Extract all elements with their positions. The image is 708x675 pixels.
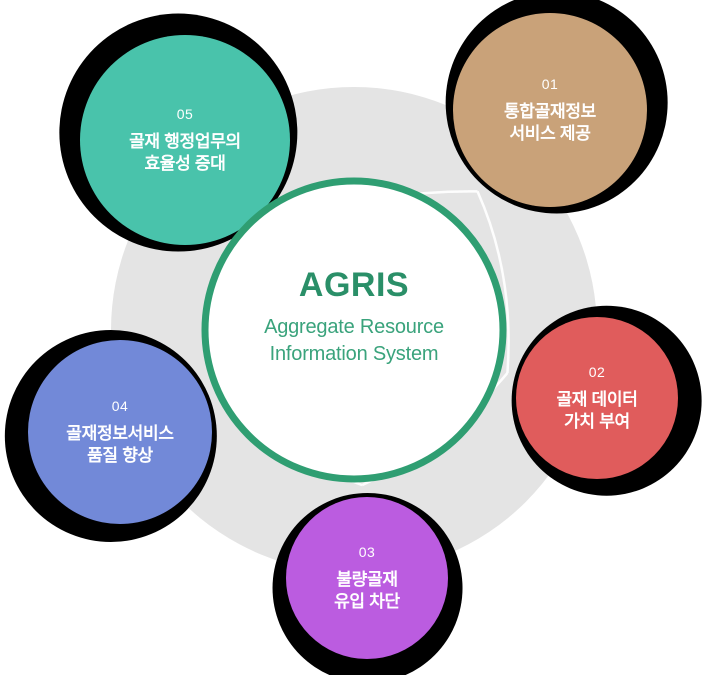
node-02-circle[interactable] bbox=[516, 317, 678, 479]
node-01-circle[interactable] bbox=[453, 13, 647, 207]
node-04-circle[interactable] bbox=[28, 340, 212, 524]
center-circle bbox=[205, 181, 503, 479]
diagram-graphics bbox=[0, 0, 708, 675]
node-03-circle[interactable] bbox=[286, 497, 448, 659]
diagram-canvas: AGRIS Aggregate Resource Information Sys… bbox=[0, 0, 708, 675]
